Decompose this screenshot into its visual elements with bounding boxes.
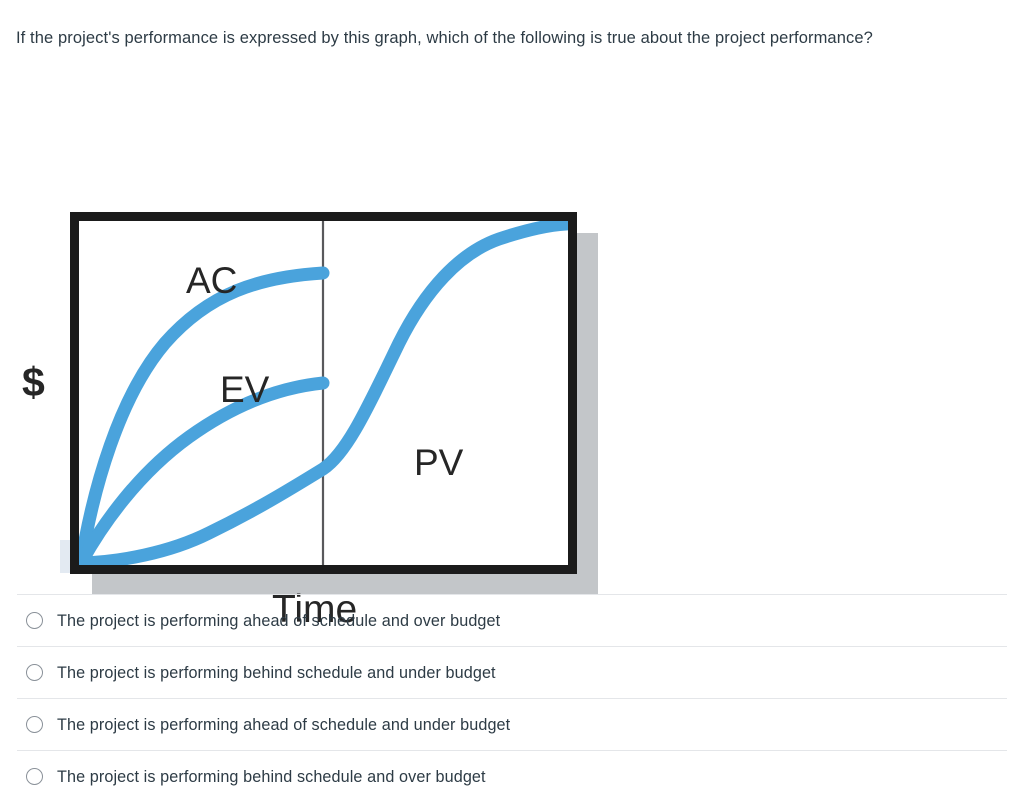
answer-option-3[interactable]: The project is performing ahead of sched… [17,698,1007,750]
curve-label-ac: AC [186,262,237,299]
answer-option-label: The project is performing ahead of sched… [57,611,500,631]
answer-options-list: The project is performing ahead of sched… [17,594,1007,802]
radio-button-icon[interactable] [26,664,43,681]
performance-chart: $ Time AC EV PV [0,100,640,550]
answer-option-label: The project is performing behind schedul… [57,767,486,787]
answer-option-label: The project is performing ahead of sched… [57,715,510,735]
radio-button-icon[interactable] [26,768,43,785]
radio-button-icon[interactable] [26,716,43,733]
answer-option-1[interactable]: The project is performing ahead of sched… [17,594,1007,646]
answer-option-2[interactable]: The project is performing behind schedul… [17,646,1007,698]
curve-label-pv: PV [414,444,463,481]
curve-label-ev: EV [220,371,269,408]
y-axis-label: $ [22,362,45,403]
chart-shadow-right [575,233,598,595]
chart-curves [79,221,568,565]
curve-ac [81,273,323,563]
answer-option-4[interactable]: The project is performing behind schedul… [17,750,1007,802]
answer-option-label: The project is performing behind schedul… [57,663,496,683]
radio-button-icon[interactable] [26,612,43,629]
question-text: If the project's performance is expresse… [16,22,1006,54]
